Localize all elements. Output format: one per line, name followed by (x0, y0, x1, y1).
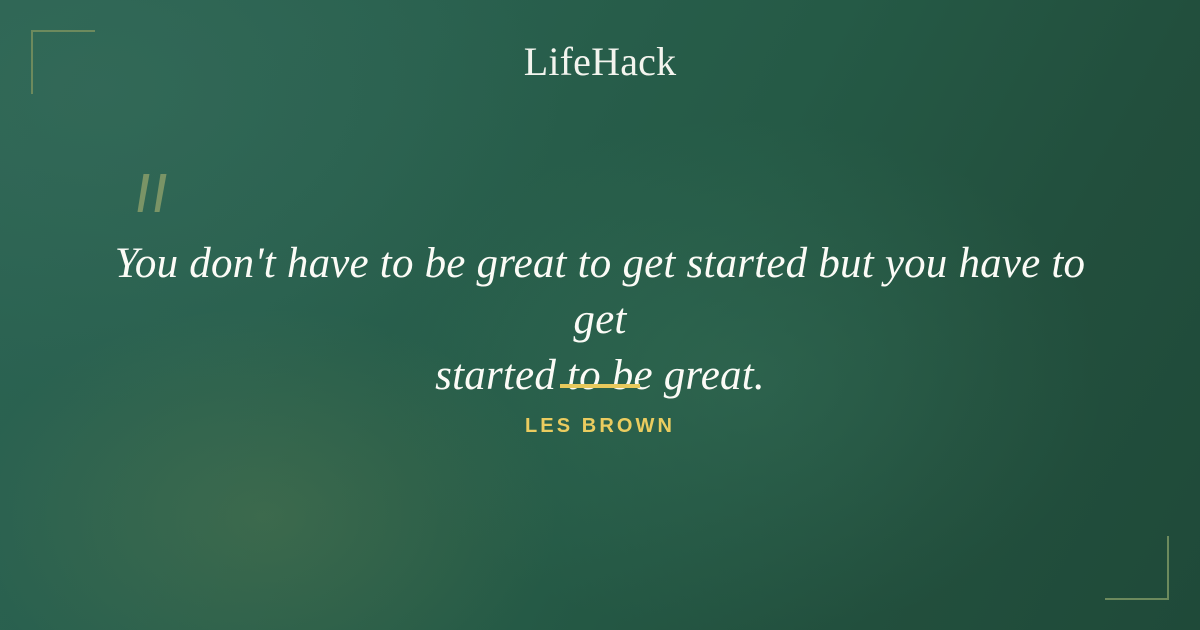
corner-bracket-bottom-right-icon (1105, 536, 1169, 600)
quote-card: LifeHack You don't have to be great to g… (0, 0, 1200, 630)
quote-author: LES BROWN (0, 412, 1200, 440)
quote-body: You don't have to be great to get starte… (100, 236, 1100, 404)
gold-divider-rule (560, 384, 640, 388)
quote-line-2: started to be great. (100, 348, 1100, 404)
quote-line-1: You don't have to be great to get starte… (100, 236, 1100, 348)
quotation-mark-icon (129, 172, 181, 220)
brand-logo: LifeHack (0, 38, 1200, 86)
